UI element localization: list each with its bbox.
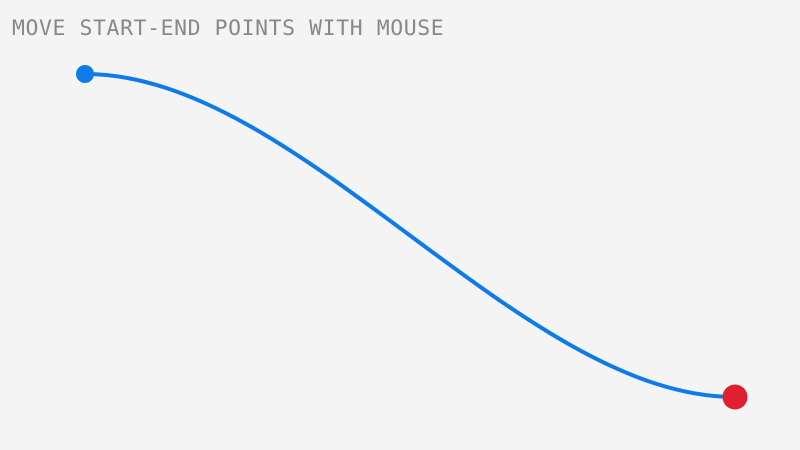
canvas-stage[interactable]: MOVE START-END POINTS WITH MOUSE: [0, 0, 800, 450]
end-point-handle[interactable]: [723, 385, 748, 410]
bezier-canvas[interactable]: [0, 0, 800, 450]
bezier-curve: [85, 74, 735, 397]
start-point-handle[interactable]: [76, 65, 94, 83]
page-title: MOVE START-END POINTS WITH MOUSE: [12, 16, 444, 40]
